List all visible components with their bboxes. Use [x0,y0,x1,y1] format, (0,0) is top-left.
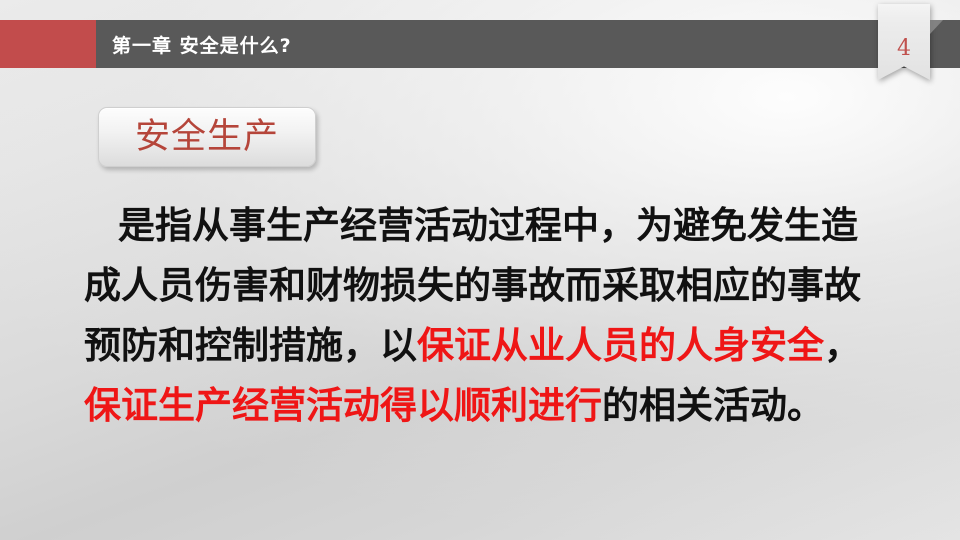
plain-text: 成人员伤害和财物损失的事故而采取相应的事故 [84,264,861,307]
topic-callout-box: 安全生产 [98,107,316,167]
plain-text: 的相关活动。 [602,384,824,427]
plain-text: ， [824,324,861,367]
chapter-title: 第一章 安全是什么? [96,31,292,58]
header-accent-block [0,20,96,68]
header-title-band: 第一章 安全是什么? [96,20,960,68]
plain-text: 是指从事生产经营活动过程中，为避免发生造 [118,204,858,247]
page-number: 4 [878,36,930,61]
plain-text: 预防和控制措施，以 [84,324,417,367]
paragraph-line: 预防和控制措施，以保证从业人员的人身安全， [84,316,888,376]
definition-paragraph: 是指从事生产经营活动过程中，为避免发生造成人员伤害和财物损失的事故而采取相应的事… [84,196,888,436]
highlighted-text: 保证从业人员的人身安全 [417,324,824,367]
ribbon-fold-icon [930,20,943,34]
page-number-ribbon: 4 [878,4,930,80]
chapter-header-bar: 第一章 安全是什么? [0,20,960,68]
highlighted-text: 保证生产经营活动得以顺利进行 [84,384,602,427]
paragraph-line: 成人员伤害和财物损失的事故而采取相应的事故 [84,256,888,316]
paragraph-line: 保证生产经营活动得以顺利进行的相关活动。 [84,376,888,436]
topic-callout-label: 安全生产 [135,120,279,155]
paragraph-line: 是指从事生产经营活动过程中，为避免发生造 [84,196,888,256]
slide-canvas: 第一章 安全是什么? 4 安全生产 是指从事生产经营活动过程中，为避免发生造成人… [0,0,960,540]
